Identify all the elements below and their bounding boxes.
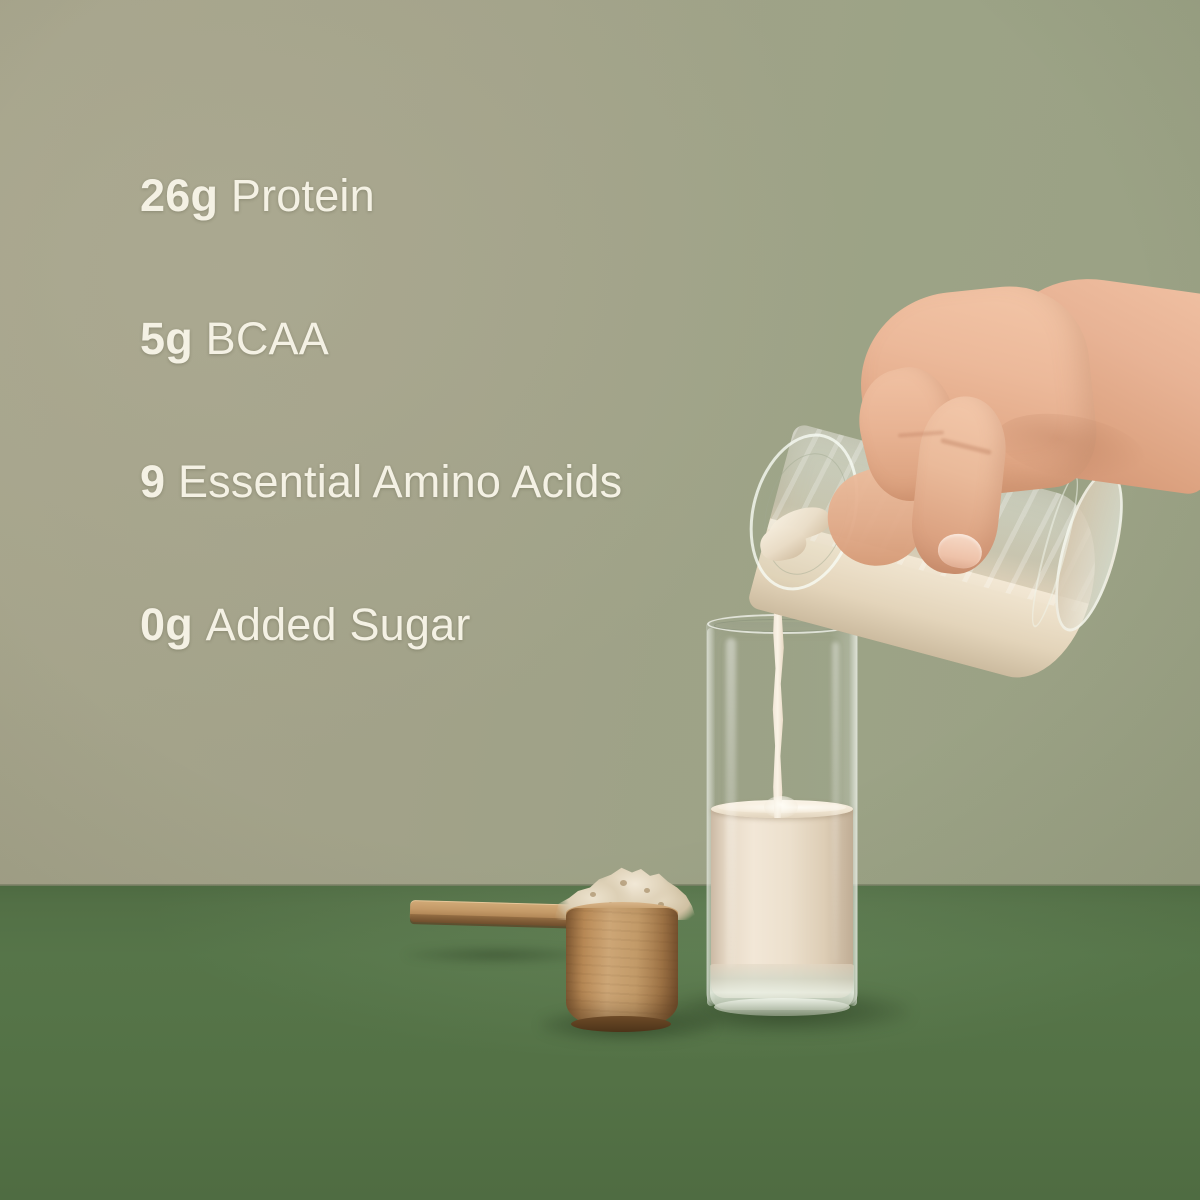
powder-speck — [644, 888, 650, 893]
fact-value-bcaa: 5g — [140, 313, 193, 364]
fact-value-protein: 26g — [140, 170, 218, 221]
fact-value-added-sugar: 0g — [140, 599, 193, 650]
fact-value-amino-acids: 9 — [140, 456, 165, 507]
fact-label-amino-acids: Essential Amino Acids — [178, 456, 622, 507]
nutrition-facts-list: 26g Protein 5g BCAA 9 Essential Amino Ac… — [140, 168, 760, 740]
pour-lip-group — [762, 544, 796, 802]
scoop-wood-grain — [566, 908, 678, 1028]
product-photo-scene: 26g Protein 5g BCAA 9 Essential Amino Ac… — [0, 0, 1200, 1200]
glass-highlight-right — [832, 642, 839, 962]
scoop-cup-base — [571, 1016, 671, 1032]
fact-label-added-sugar: Added Sugar — [206, 599, 471, 650]
fact-row-bcaa: 5g BCAA — [140, 311, 760, 454]
fact-row-protein: 26g Protein — [140, 168, 760, 311]
scoop-handle-shadow — [405, 946, 590, 964]
powder-speck — [620, 880, 627, 886]
fact-label-bcaa: BCAA — [206, 313, 329, 364]
fact-row-added-sugar: 0g Added Sugar — [140, 597, 760, 740]
fact-row-amino-acids: 9 Essential Amino Acids — [140, 454, 760, 597]
glass-base-ellipse — [714, 998, 850, 1016]
powder-speck — [590, 892, 596, 897]
fact-label-protein: Protein — [231, 170, 375, 221]
